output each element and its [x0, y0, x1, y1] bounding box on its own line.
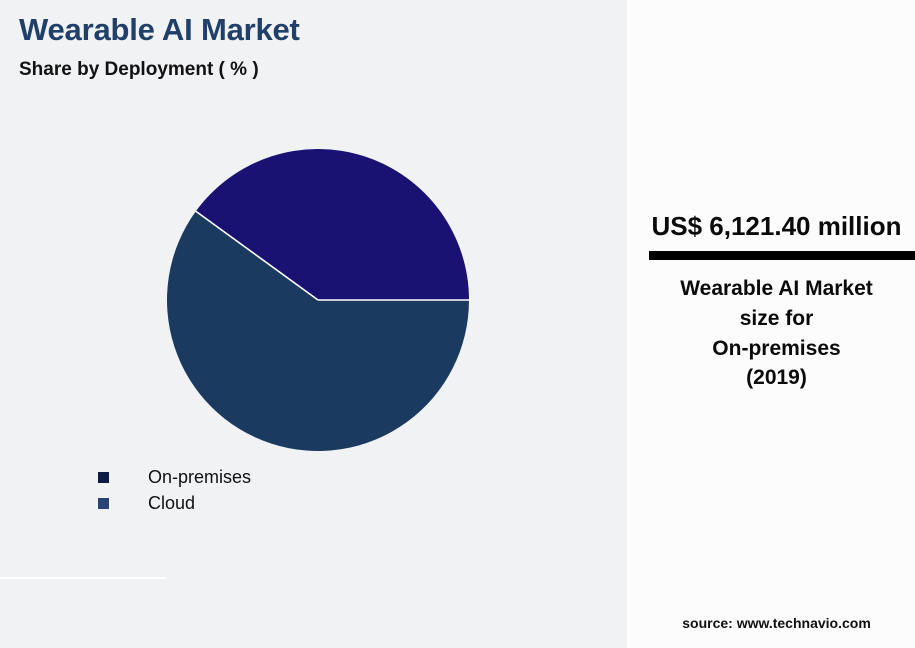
source-note: source: www.technavio.com: [638, 615, 915, 631]
callout-caption: Wearable AI Market size for On-premises …: [638, 274, 915, 393]
legend-label-on-premises: On-premises: [148, 468, 251, 486]
callout-underline: [649, 251, 915, 260]
baseline-divider: [0, 577, 166, 579]
callout-caption-line-4: (2019): [638, 363, 915, 393]
page-title: Wearable AI Market: [19, 14, 599, 47]
chart-subtitle: Share by Deployment ( % ): [19, 60, 599, 81]
pie-chart-svg: [167, 149, 470, 452]
callout-caption-line-1: Wearable AI Market: [638, 274, 915, 304]
callout-caption-line-3: On-premises: [638, 334, 915, 364]
callout-inner: US$ 6,121.40 million Wearable AI Market …: [638, 0, 915, 648]
legend-item-on-premises[interactable]: On-premises: [98, 464, 528, 490]
chart-panel: Wearable AI Market Share by Deployment (…: [0, 0, 627, 648]
callout-value: US$ 6,121.40 million: [638, 212, 915, 242]
chart-legend: On-premises Cloud: [98, 464, 528, 516]
callout-caption-line-2: size for: [638, 304, 915, 334]
callout-panel: US$ 6,121.40 million Wearable AI Market …: [627, 0, 915, 648]
legend-swatch-on-premises: [98, 472, 109, 483]
legend-swatch-cloud: [98, 498, 109, 509]
legend-label-cloud: Cloud: [148, 494, 195, 512]
legend-item-cloud[interactable]: Cloud: [98, 490, 528, 516]
pie-chart: [167, 149, 470, 452]
title-block: Wearable AI Market Share by Deployment (…: [19, 14, 599, 80]
